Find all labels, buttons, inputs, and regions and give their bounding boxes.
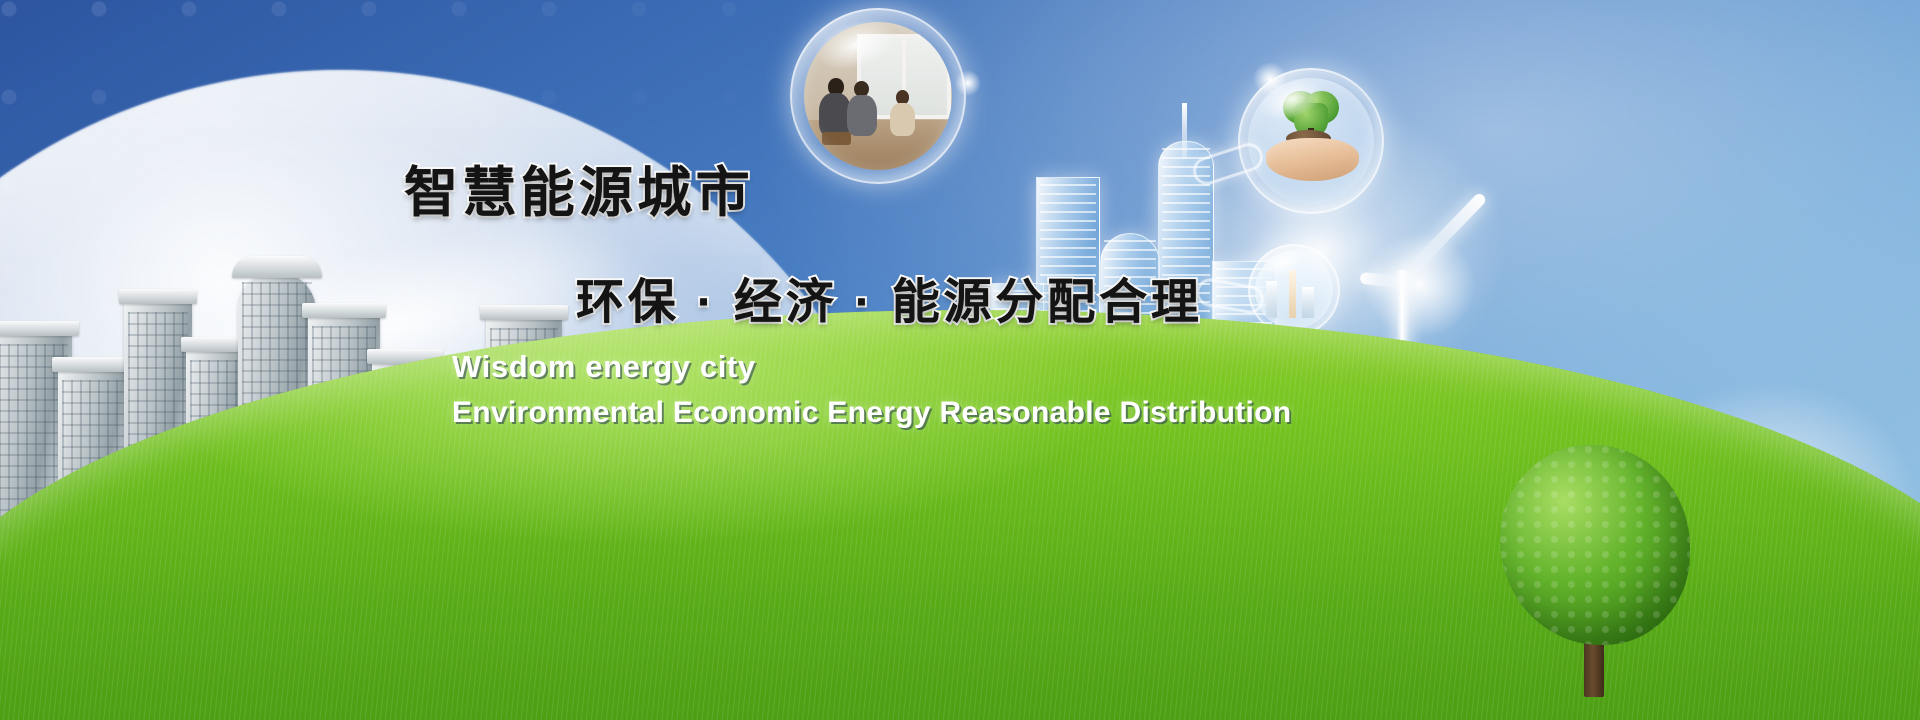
headline-en: Wisdom energy city: [452, 349, 756, 385]
banner-copy: 智慧能源城市 智慧能源城市 环保 · 经济 · 能源分配合理 环保 · 经济 ·…: [0, 0, 1920, 720]
headline-cn: 智慧能源城市: [404, 148, 754, 227]
subhead-cn: 环保 · 经济 · 能源分配合理: [576, 262, 1203, 332]
energy-city-banner: 智慧能源城市 智慧能源城市 环保 · 经济 · 能源分配合理 环保 · 经济 ·…: [0, 0, 1920, 720]
subhead-en: Environmental Economic Energy Reasonable…: [452, 396, 1291, 430]
